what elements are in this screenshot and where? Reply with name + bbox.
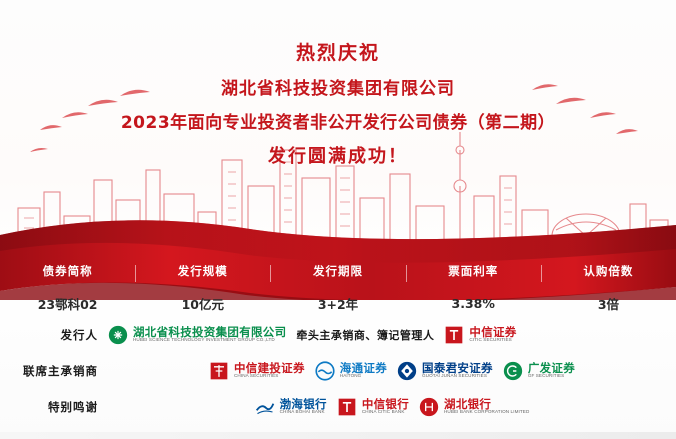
table-header-row: 债券简称 发行规模 发行期限 票面利率 认购倍数 <box>0 258 676 284</box>
haitong-logo: 海通证券 HAITONG <box>315 361 387 381</box>
headline-line-4: 发行圆满成功！ <box>0 142 676 168</box>
bohai-bank-logo-en: CHINA BOHAI BANK <box>280 410 327 415</box>
citic-securities-logo: 中信证券 CITIC SECURITIES <box>444 325 516 345</box>
gf-securities-logo-en: GF SECURITIES <box>528 374 575 379</box>
gf-securities-logo: 广发证券 GF SECURITIES <box>503 361 575 381</box>
table-header-cell: 发行规模 <box>135 263 270 279</box>
hubei-bank-logo-en: HUBEI BANK CORPORATION LIMITED <box>444 410 529 415</box>
special-thanks-row-label: 特别鸣谢 <box>0 399 108 415</box>
celebration-poster: 热烈庆祝 湖北省科技投资集团有限公司 2023年面向专业投资者非公开发行公司债券… <box>0 0 676 439</box>
gf-securities-logo-icon <box>503 361 523 381</box>
table-value-cell: 10亿元 <box>135 294 270 313</box>
headline-block: 热烈庆祝 湖北省科技投资集团有限公司 2023年面向专业投资者非公开发行公司债券… <box>0 38 676 168</box>
citic-bank-logo: 中信银行 CHINA CITIC BANK <box>337 397 409 417</box>
citic-securities-logo-en: CITIC SECURITIES <box>469 338 516 343</box>
bottom-divider <box>0 432 676 439</box>
haitong-logo-en: HAITONG <box>340 374 387 379</box>
hubei-bank-logo-icon <box>419 397 439 417</box>
guotai-junan-logo-en: GUOTAI JUNAN SECURITIES <box>422 374 493 379</box>
haitong-logo-icon <box>315 361 335 381</box>
table-header-cell: 发行期限 <box>270 263 405 279</box>
bohai-bank-logo: 渤海银行 CHINA BOHAI BANK <box>255 397 327 417</box>
htig-logo-en: HUBEI SCIENCE TECHNOLOGY INVESTMENT GROU… <box>133 338 286 343</box>
issuer-row: 发行人 湖北省科技投资集团有限公司 HUBEI SCIENCE TECHNOLO… <box>0 318 676 351</box>
bohai-bank-logo-icon <box>255 397 275 417</box>
headline-line-1: 热烈庆祝 <box>0 38 676 65</box>
table-header-cell: 债券简称 <box>0 263 135 279</box>
htig-logo: 湖北省科技投资集团有限公司 HUBEI SCIENCE TECHNOLOGY I… <box>108 325 286 345</box>
hubei-bank-logo: 湖北银行 HUBEI BANK CORPORATION LIMITED <box>419 397 529 417</box>
citic-bank-logo-icon <box>337 397 357 417</box>
special-thanks-row: 特别鸣谢 渤海银行 CHINA BOHAI BANK <box>0 390 676 423</box>
table-value-cell: 3.38% <box>406 296 541 311</box>
china-securities-logo-en: CHINA SECURITIES <box>234 374 305 379</box>
guotai-junan-logo-icon <box>397 361 417 381</box>
guotai-junan-logo: 国泰君安证券 GUOTAI JUNAN SECURITIES <box>397 361 493 381</box>
china-securities-logo: 中信建投证券 CHINA SECURITIES <box>209 361 305 381</box>
table-value-cell: 3倍 <box>541 294 676 313</box>
issuer-row-items: 湖北省科技投资集团有限公司 HUBEI SCIENCE TECHNOLOGY I… <box>108 325 676 345</box>
bond-summary-table: 债券简称 发行规模 发行期限 票面利率 认购倍数 23鄂科02 10亿元 3+2… <box>0 258 676 318</box>
citic-bank-logo-en: CHINA CITIC BANK <box>362 410 409 415</box>
headline-line-2: 湖北省科技投资集团有限公司 <box>0 74 676 99</box>
joint-underwriters-row: 联席主承销商 中信建投证券 CHINA SECURITIES <box>0 354 676 387</box>
special-thanks-items: 渤海银行 CHINA BOHAI BANK 中信银行 CHINA CITIC B… <box>108 397 676 417</box>
table-value-cell: 3+2年 <box>270 294 405 313</box>
headline-line-3: 2023年面向专业投资者非公开发行公司债券（第二期） <box>0 108 676 133</box>
china-securities-logo-icon <box>209 361 229 381</box>
table-value-cell: 23鄂科02 <box>0 294 135 313</box>
citic-securities-logo-icon <box>444 325 464 345</box>
htig-logo-icon <box>108 325 128 345</box>
table-header-cell: 票面利率 <box>406 263 541 279</box>
joint-underwriters-row-label: 联席主承销商 <box>0 363 108 379</box>
joint-underwriters-items: 中信建投证券 CHINA SECURITIES 海通证券 HAITONG <box>108 361 676 381</box>
table-value-row: 23鄂科02 10亿元 3+2年 3.38% 3倍 <box>0 288 676 318</box>
table-header-cell: 认购倍数 <box>541 263 676 279</box>
participants-section: 发行人 湖北省科技投资集团有限公司 HUBEI SCIENCE TECHNOLO… <box>0 318 676 426</box>
lead-underwriter-label: 牵头主承销商、簿记管理人 <box>296 327 434 343</box>
issuer-row-label: 发行人 <box>0 327 108 343</box>
